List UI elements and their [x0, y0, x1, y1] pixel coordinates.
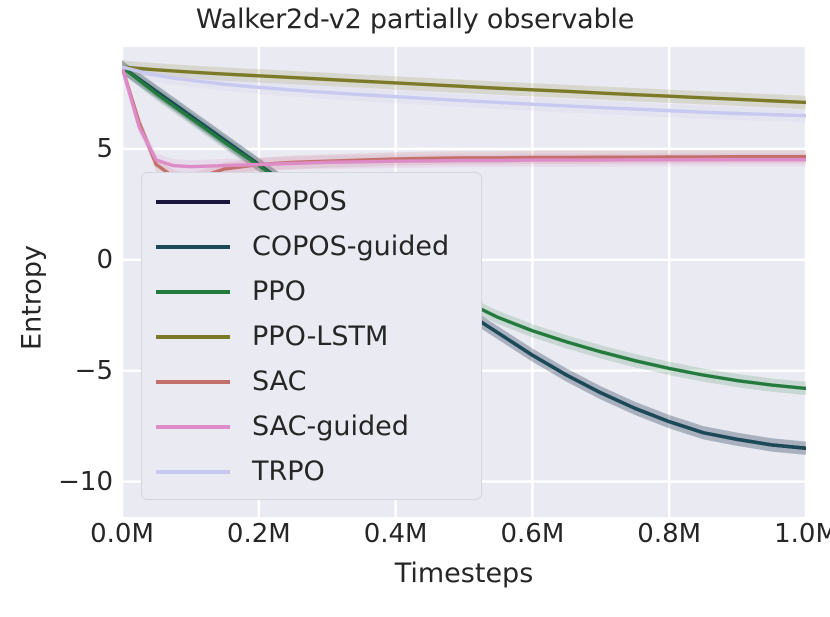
x-tick-label: 0.4M: [364, 519, 428, 549]
legend-swatch-icon: [156, 200, 230, 204]
legend-item-label: COPOS-guided: [252, 233, 449, 260]
legend-item-copos-guided[interactable]: COPOS-guided: [142, 224, 481, 269]
legend-item-label: SAC: [252, 368, 307, 395]
legend-swatch-icon: [156, 470, 230, 474]
x-tick-label: 0.6M: [501, 519, 565, 549]
y-tick-label: 5: [0, 134, 113, 164]
legend-swatch-icon: [156, 425, 230, 429]
chart-legend: COPOSCOPOS-guidedPPOPPO-LSTMSACSAC-guide…: [141, 172, 482, 500]
legend-item-ppo[interactable]: PPO: [142, 269, 481, 314]
legend-item-label: PPO: [252, 278, 306, 305]
legend-swatch-icon: [156, 335, 230, 339]
legend-item-copos[interactable]: COPOS: [142, 179, 481, 224]
legend-swatch-icon: [156, 245, 230, 249]
x-tick-label: 1.0M: [774, 519, 830, 549]
legend-item-label: PPO-LSTM: [252, 323, 388, 350]
y-axis-label: Entropy: [17, 178, 48, 418]
legend-item-sac[interactable]: SAC: [142, 359, 481, 404]
chart-figure: Walker2d-v2 partially observable 50−5−10…: [0, 0, 830, 617]
x-tick-label: 0.2M: [227, 519, 291, 549]
x-axis-label: Timesteps: [122, 558, 806, 589]
legend-item-ppo-lstm[interactable]: PPO-LSTM: [142, 314, 481, 359]
legend-swatch-icon: [156, 290, 230, 294]
legend-item-label: TRPO: [252, 458, 325, 485]
legend-item-sac-guided[interactable]: SAC-guided: [142, 404, 481, 449]
x-tick-label: 0.0M: [90, 519, 154, 549]
y-tick-label: −10: [0, 467, 113, 497]
legend-swatch-icon: [156, 380, 230, 384]
legend-item-trpo[interactable]: TRPO: [142, 449, 481, 494]
legend-item-label: COPOS: [252, 188, 347, 215]
legend-item-label: SAC-guided: [252, 413, 409, 440]
x-axis-tick-labels: 0.0M0.2M0.4M0.6M0.8M1.0M: [122, 519, 806, 559]
x-tick-label: 0.8M: [637, 519, 701, 549]
chart-title: Walker2d-v2 partially observable: [0, 4, 830, 35]
